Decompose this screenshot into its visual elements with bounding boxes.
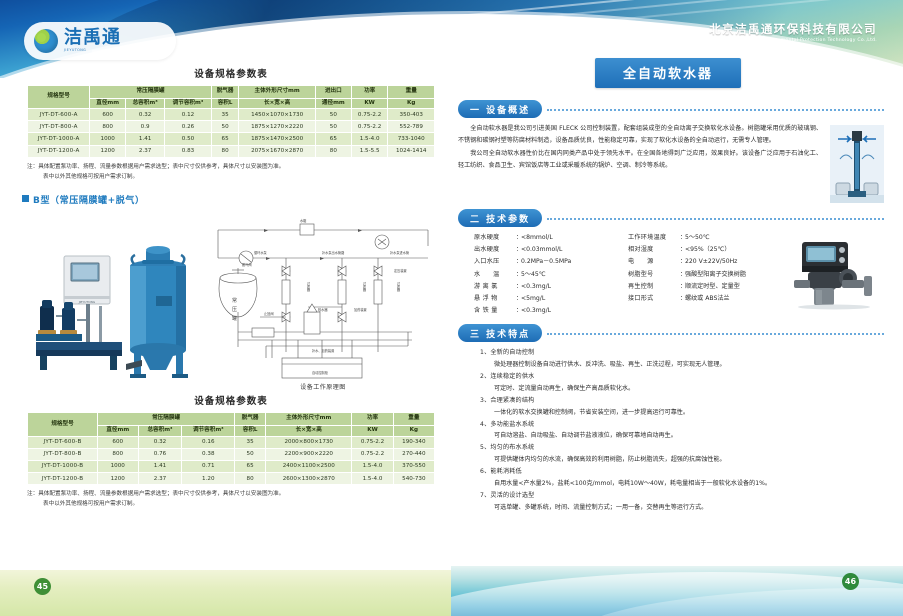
table2-body: JYT-DT-600-B 600 0.32 0.16 35 2000×800×1… [28,436,435,485]
feature-desc: 可选单罐、多罐系统，时间、流量控制方式；一用一备，交替再生等运行方式。 [480,502,884,514]
param-label: 树脂型号 [628,269,680,281]
cell-dimensions: 1875×1270×2220 [239,121,316,133]
section-b-label: B型（常压隔膜罐+脱气） [33,196,145,206]
param-value: <5mg/L [521,293,628,305]
cell-power: 0.75-2.2 [351,109,388,121]
table-row: JYT-DT-800-A 800 0.9 0.26 50 1875×1270×2… [28,121,435,133]
cell-model: JYT-DT-1000-A [28,133,90,145]
table1-body: JYT-DT-600-A 600 0.32 0.12 35 1450×1070×… [28,109,435,158]
table1-title: 设备规格参数表 [22,66,440,80]
cell-power: 1.5-5.5 [351,145,388,157]
brochure-page: 洁禹通 JIEYUTONG 北京洁禹通环保科技有限公司 Beijing Jiey… [0,0,903,616]
param-label: 水 温 [474,269,516,281]
cell-degasser-volume: 35 [235,436,266,448]
globe-logo-icon [34,29,58,53]
feature-heading: 4、多功能盐水系统 [480,419,884,431]
page-number-left: 45 [34,578,51,595]
param-row: 接口形式： 螺纹或 ABS法兰 [628,293,782,305]
th-total-volume: 总容积m³ [126,98,165,109]
cell-total-volume: 0.76 [138,448,182,460]
table1-header-row-1: 规格型号 常压隔膜罐 脱气器 主体外形尺寸mm 进出口 功率 重量 [28,86,435,99]
cell-diameter: 1200 [98,473,138,485]
cell-degasser-volume: 50 [235,448,266,460]
cell-port: 65 [315,133,351,145]
feature-heading: 1、全新的自动控制 [480,347,884,359]
cell-power: 0.75-2.2 [352,448,393,460]
cell-dimensions: 1875×1470×2500 [239,133,316,145]
param-row: 树脂型号： 强酸型阳离子交换树脂 [628,269,782,281]
table-row: JYT-DT-1000-B 1000 1.41 0.71 65 2400×110… [28,460,435,472]
svg-text:加药装置: 加药装置 [354,307,367,312]
cell-adjust-volume: 0.38 [182,448,235,460]
param-row: 工作环境温度： 5～50℃ [628,232,782,244]
logo-text-en: JIEYUTONG [64,49,121,52]
section-tag-params: 二 技术参数 [458,209,542,227]
param-value: 5～50℃ [685,232,782,244]
cell-adjust-volume: 0.50 [165,133,212,145]
cell-total-volume: 0.32 [138,436,182,448]
cell-adjust-volume: 0.71 [182,460,235,472]
th-port-dia: 通径mm [315,98,351,109]
right-column: 全自动软水器 一 设备概述 全自动软水器是我公司引进美国 FLECK 公司控制装… [452,58,884,514]
param-value: 顺流定时型、定量型 [685,281,782,293]
cell-adjust-volume: 1.20 [182,473,235,485]
list-item: 2、连续稳定的供水 可定时、定流量自动再生，确保生产高品质软化水。 [480,371,884,395]
cell-total-volume: 0.32 [126,109,165,121]
table-row: JYT-DT-1200-A 1200 2.37 0.83 80 2075×167… [28,145,435,157]
svg-text:自动控制柜: 自动控制柜 [312,370,329,375]
param-label: 工作环境温度 [628,232,680,244]
cell-degasser-volume: 65 [211,133,239,145]
cell-total-volume: 2.37 [138,473,182,485]
th-model: 规格型号 [28,413,98,436]
table2-note-line1: 注：具体配置泵功率、扬程、流量参数根据用户需求选型；表中尺寸仅供参考，具体尺寸以… [27,490,435,500]
param-row: 电 源： 220 V±22V/50Hz [628,256,782,268]
svg-text:脱气阀: 脱气阀 [242,262,252,267]
cell-degasser-volume: 80 [235,473,266,485]
cell-dimensions: 2200×900×2220 [266,448,352,460]
cell-degasser-volume: 65 [235,460,266,472]
th-degasser: 脱气器 [211,86,239,99]
cell-dimensions: 2400×1100×2500 [266,460,352,472]
cell-degasser-volume: 35 [211,109,239,121]
cell-total-volume: 0.9 [126,121,165,133]
param-row: 游 离 氯： <0.3mg/L [474,281,628,293]
th-power-unit: KW [352,425,393,436]
param-row: 再生控制： 顺流定时型、定量型 [628,281,782,293]
param-row: 水 温： 5～45℃ [474,269,628,281]
system-schematic-diagram: 常 压 罐 脱气阀 循环水泵 补水泵出水管路 补水泵进水管 定压装置 水箱 过滤… [212,212,434,382]
cell-diameter: 1200 [90,145,126,157]
table2-header-row-1: 规格型号 常压隔膜罐 脱气器 主体外形尺寸mm 功率 重量 [28,413,435,426]
th-adjust-volume: 调节容积m³ [165,98,212,109]
cell-diameter: 1000 [98,460,138,472]
list-item: 1、全新的自动控制 微处理器控制设备自动进行供水、反冲洗、吸盐、再生、正洗过程，… [480,347,884,371]
schematic-caption: 设备工作原理图 [212,382,434,391]
th-weight-unit: Kg [393,425,434,436]
param-label: 悬 浮 物 [474,293,516,305]
cell-total-volume: 1.41 [126,133,165,145]
feature-heading: 6、能耗消耗低 [480,466,884,478]
overview-paragraphs: 全自动软水器是我公司引进美国 FLECK 公司控制装置，配套组装成型的全自动离子… [452,123,822,173]
softener-vessel-illustration [830,125,884,203]
feature-desc: 可自动溶盐、自动吸盐、自动调节盐液液位，确保可靠地自动再生。 [480,430,884,442]
th-lwh: 长×宽×高 [266,425,352,436]
param-label: 再生控制 [628,281,680,293]
cell-model: JYT-DT-600-A [28,109,90,121]
feature-desc: 自用水量<产水量2%，盐耗<100克/mmol，电耗10W～40W，耗电量相当于… [480,478,884,490]
th-degasser-volume: 容积L [211,98,239,109]
cell-diameter: 600 [98,436,138,448]
param-row: 原水硬度： <8mmol/L [474,232,628,244]
th-degasser-volume: 容积L [235,425,266,436]
svg-text:罐: 罐 [232,315,237,322]
cell-total-volume: 2.37 [126,145,165,157]
feature-heading: 2、连续稳定的供水 [480,371,884,383]
cell-weight: 350-403 [388,109,435,121]
th-weight: 重量 [393,413,434,426]
cell-model: JYT-DT-1000-B [28,460,98,472]
list-item: 6、能耗消耗低 自用水量<产水量2%，盐耗<100克/mmol，电耗10W～40… [480,466,884,490]
th-total-volume: 总容积m³ [138,425,182,436]
param-value: 220 V±22V/50Hz [685,256,782,268]
page-title: 全自动软水器 [595,58,741,88]
th-weight-unit: Kg [388,98,435,109]
section-dotted-rule [547,218,884,220]
params-content: 原水硬度： <8mmol/L 出水硬度： <0.03mmol/L 入口水压： 0… [452,232,884,317]
left-column: 设备规格参数表 规格型号 常压隔膜罐 脱气器 主体外形尺寸mm 进出口 功率 重… [22,66,440,510]
param-label: 出水硬度 [474,244,516,256]
th-degasser: 脱气器 [235,413,266,426]
th-dimensions: 主体外形尺寸mm [266,413,352,426]
param-row: 悬 浮 物： <5mg/L [474,293,628,305]
table1-note-line2: 表中以外其他规格可按用户需求订制。 [27,173,435,183]
section-dotted-rule [547,109,884,111]
company-name-block: 北京洁禹通环保科技有限公司 Beijing Jieyutong Environm… [709,22,877,44]
svg-text:止回阀: 止回阀 [264,311,274,316]
param-value: <8mmol/L [521,232,628,244]
feature-heading: 5、均匀的布水系统 [480,442,884,454]
features-list: 1、全新的自动控制 微处理器控制设备自动进行供水、反冲洗、吸盐、再生、正洗过程，… [452,347,884,513]
svg-text:过滤器: 过滤器 [362,281,366,292]
param-value: <95%（25℃） [685,244,782,256]
params-columns: 原水硬度： <8mmol/L 出水硬度： <0.03mmol/L 入口水压： 0… [452,232,782,317]
svg-text:循环水泵: 循环水泵 [254,250,268,255]
section-b-heading: B型（常压隔膜罐+脱气） [22,193,440,206]
spec-table-a: 规格型号 常压隔膜罐 脱气器 主体外形尺寸mm 进出口 功率 重量 直径mm 总… [27,85,435,158]
cell-model: JYT-DT-1200-A [28,145,90,157]
cell-weight: 270-440 [393,448,434,460]
table-row: JYT-DT-600-B 600 0.32 0.16 35 2000×800×1… [28,436,435,448]
page-number-right: 46 [842,573,859,590]
svg-text:过滤器: 过滤器 [396,281,400,292]
svg-text:水箱: 水箱 [300,218,307,223]
table1-note-line1: 注：具体配置泵功率、扬程、流量参数根据用户需求选型；表中尺寸仅供参考，具体尺寸以… [27,163,435,173]
feature-heading: 7、灵活的设计选型 [480,490,884,502]
company-name-cn: 北京洁禹通环保科技有限公司 [709,22,877,36]
cell-power: 0.75-2.2 [352,436,393,448]
svg-text:补水、加药装置: 补水、加药装置 [312,348,334,353]
list-item: 3、合理紧凑的结构 一体化的软水交换罐和控制阀，节省安装空间，进一步提高运行可靠… [480,395,884,419]
cell-dimensions: 2000×800×1730 [266,436,352,448]
equipment-photo: JIEYUTONG [30,220,205,382]
list-item: 4、多功能盐水系统 可自动溶盐、自动吸盐、自动调节盐液液位，确保可靠地自动再生。 [480,419,884,443]
cell-degasser-volume: 80 [211,145,239,157]
cell-model: JYT-DT-1200-B [28,473,98,485]
cell-adjust-volume: 0.26 [165,121,212,133]
cell-diameter: 600 [90,109,126,121]
feature-desc: 可定时、定流量自动再生，确保生产高品质软化水。 [480,383,884,395]
th-lwh: 长×宽×高 [239,98,316,109]
cell-dimensions: 2075×1670×2870 [239,145,316,157]
table1-note: 注：具体配置泵功率、扬程、流量参数根据用户需求选型；表中尺寸仅供参考，具体尺寸以… [27,163,435,183]
footer-right-band [451,566,903,616]
section-tag-overview: 一 设备概述 [458,100,542,118]
section-header-params: 二 技术参数 [458,209,884,227]
param-label: 接口形式 [628,293,680,305]
param-value: 螺纹或 ABS法兰 [685,293,782,305]
cell-port: 80 [315,145,351,157]
table-row: JYT-DT-1000-A 1000 1.41 0.50 65 1875×147… [28,133,435,145]
cell-power: 1.5-4.0 [352,460,393,472]
params-right-column: 工作环境温度： 5～50℃ 相对湿度： <95%（25℃） 电 源： 220 V… [628,232,782,317]
cell-dimensions: 1450×1070×1730 [239,109,316,121]
th-diaphragm-tank: 常压隔膜罐 [90,86,212,99]
param-value: <0.03mmol/L [521,244,628,256]
overview-para-1: 全自动软水器是我公司引进美国 FLECK 公司控制装置，配套组装成型的全自动离子… [458,123,822,148]
cell-diameter: 1000 [90,133,126,145]
param-label: 入口水压 [474,256,516,268]
param-value: 0.2MPa－0.5MPa [521,256,628,268]
param-value: 强酸型阳离子交换树脂 [685,269,782,281]
bullet-square-icon [22,195,29,202]
list-item: 7、灵活的设计选型 可选单罐、多罐系统，时间、流量控制方式；一用一备，交替再生等… [480,490,884,514]
param-value: 5～45℃ [521,269,628,281]
th-power-unit: KW [351,98,388,109]
svg-text:补水泵出水管路: 补水泵出水管路 [322,250,345,255]
feature-heading: 3、合理紧凑的结构 [480,395,884,407]
table-row: JYT-DT-800-B 800 0.76 0.38 50 2200×900×2… [28,448,435,460]
section-header-features: 三 技术特点 [458,324,884,342]
param-label: 电 源 [628,256,680,268]
cell-weight: 733-1040 [388,133,435,145]
control-valve-photo [788,236,884,310]
param-value: <0.3mg/L [521,305,628,317]
cell-port: 50 [315,121,351,133]
cell-model: JYT-DT-800-A [28,121,90,133]
cell-dimensions: 2600×1300×2870 [266,473,352,485]
param-label: 相对湿度 [628,244,680,256]
company-logo: 洁禹通 JIEYUTONG [24,22,176,60]
cell-adjust-volume: 0.12 [165,109,212,121]
param-label: 原水硬度 [474,232,516,244]
svg-text:JIEYUTONG: JIEYUTONG [78,300,96,304]
params-left-column: 原水硬度： <8mmol/L 出水硬度： <0.03mmol/L 入口水压： 0… [474,232,628,317]
feature-desc: 一体化的软水交换罐和控制阀，节省安装空间，进一步提高运行可靠性。 [480,407,884,419]
param-value: <0.3mg/L [521,281,628,293]
table2-title: 设备规格参数表 [22,393,440,407]
table2-note-line2: 表中以外其他规格可按用户需求订制。 [27,500,435,510]
th-weight: 重量 [388,86,435,99]
feature-desc: 可提供罐体内均匀的水流，确保高效的利用树脂，防止树脂流失，超强的抗腐蚀性能。 [480,454,884,466]
svg-text:补水泵进水管: 补水泵进水管 [390,250,409,255]
cell-degasser-volume: 50 [211,121,239,133]
cell-weight: 540-730 [393,473,434,485]
th-adjust-volume: 调节容积m³ [182,425,235,436]
cell-total-volume: 1.41 [138,460,182,472]
section-tag-features: 三 技术特点 [458,324,542,342]
section-header-overview: 一 设备概述 [458,100,884,118]
th-model: 规格型号 [28,86,90,109]
section-dotted-rule [547,333,884,335]
cell-adjust-volume: 0.83 [165,145,212,157]
cell-model: JYT-DT-600-B [28,436,98,448]
footer-left-band [0,570,452,616]
cell-weight: 1024-1414 [388,145,435,157]
param-row: 出水硬度： <0.03mmol/L [474,244,628,256]
param-label: 含 铁 量 [474,305,516,317]
th-power: 功率 [351,86,388,99]
cell-diameter: 800 [98,448,138,460]
svg-text:常: 常 [232,297,237,304]
company-name-en: Beijing Jieyutong Environmental Protecti… [709,38,877,44]
spec-table-b: 规格型号 常压隔膜罐 脱气器 主体外形尺寸mm 功率 重量 直径mm 总容积m³… [27,412,435,485]
cell-weight: 370-550 [393,460,434,472]
th-diameter: 直径mm [98,425,138,436]
svg-text:压: 压 [232,307,237,313]
cell-power: 1.5-4.0 [352,473,393,485]
cell-port: 50 [315,109,351,121]
table-row: JYT-DT-1200-B 1200 2.37 1.20 80 2600×130… [28,473,435,485]
cell-weight: 190-340 [393,436,434,448]
param-row: 相对湿度： <95%（25℃） [628,244,782,256]
th-diameter: 直径mm [90,98,126,109]
overview-para-2: 我公司全自动软水器性价比在国内同类产品中处于领先水平。在全国各地得到广泛应用，效… [458,148,822,173]
equipment-visuals: JIEYUTONG [22,212,440,387]
th-dimensions: 主体外形尺寸mm [239,86,316,99]
cell-power: 0.75-2.2 [351,121,388,133]
svg-text:过滤器: 过滤器 [306,281,310,292]
table-row: JYT-DT-600-A 600 0.32 0.12 35 1450×1070×… [28,109,435,121]
param-row: 入口水压： 0.2MPa－0.5MPa [474,256,628,268]
th-diaphragm-tank: 常压隔膜罐 [98,413,235,426]
param-row: 含 铁 量： <0.3mg/L [474,305,628,317]
feature-desc: 微处理器控制设备自动进行供水、反冲洗、吸盐、再生、正洗过程，可实现无人管理。 [480,359,884,371]
cell-model: JYT-DT-800-B [28,448,98,460]
logo-text-cn: 洁禹通 [64,29,121,47]
cell-diameter: 800 [90,121,126,133]
svg-text:定压装置: 定压装置 [394,268,407,273]
list-item: 5、均匀的布水系统 可提供罐体内均匀的水流，确保高效的利用树脂，防止树脂流失，超… [480,442,884,466]
th-power: 功率 [352,413,393,426]
cell-weight: 552-789 [388,121,435,133]
cell-adjust-volume: 0.16 [182,436,235,448]
param-label: 游 离 氯 [474,281,516,293]
overview-content: 全自动软水器是我公司引进美国 FLECK 公司控制装置，配套组装成型的全自动离子… [452,123,884,203]
cell-power: 1.5-4.0 [351,133,388,145]
th-ports: 进出口 [315,86,351,99]
svg-text:软水器: 软水器 [318,307,328,312]
table2-note: 注：具体配置泵功率、扬程、流量参数根据用户需求选型；表中尺寸仅供参考，具体尺寸以… [27,490,435,510]
